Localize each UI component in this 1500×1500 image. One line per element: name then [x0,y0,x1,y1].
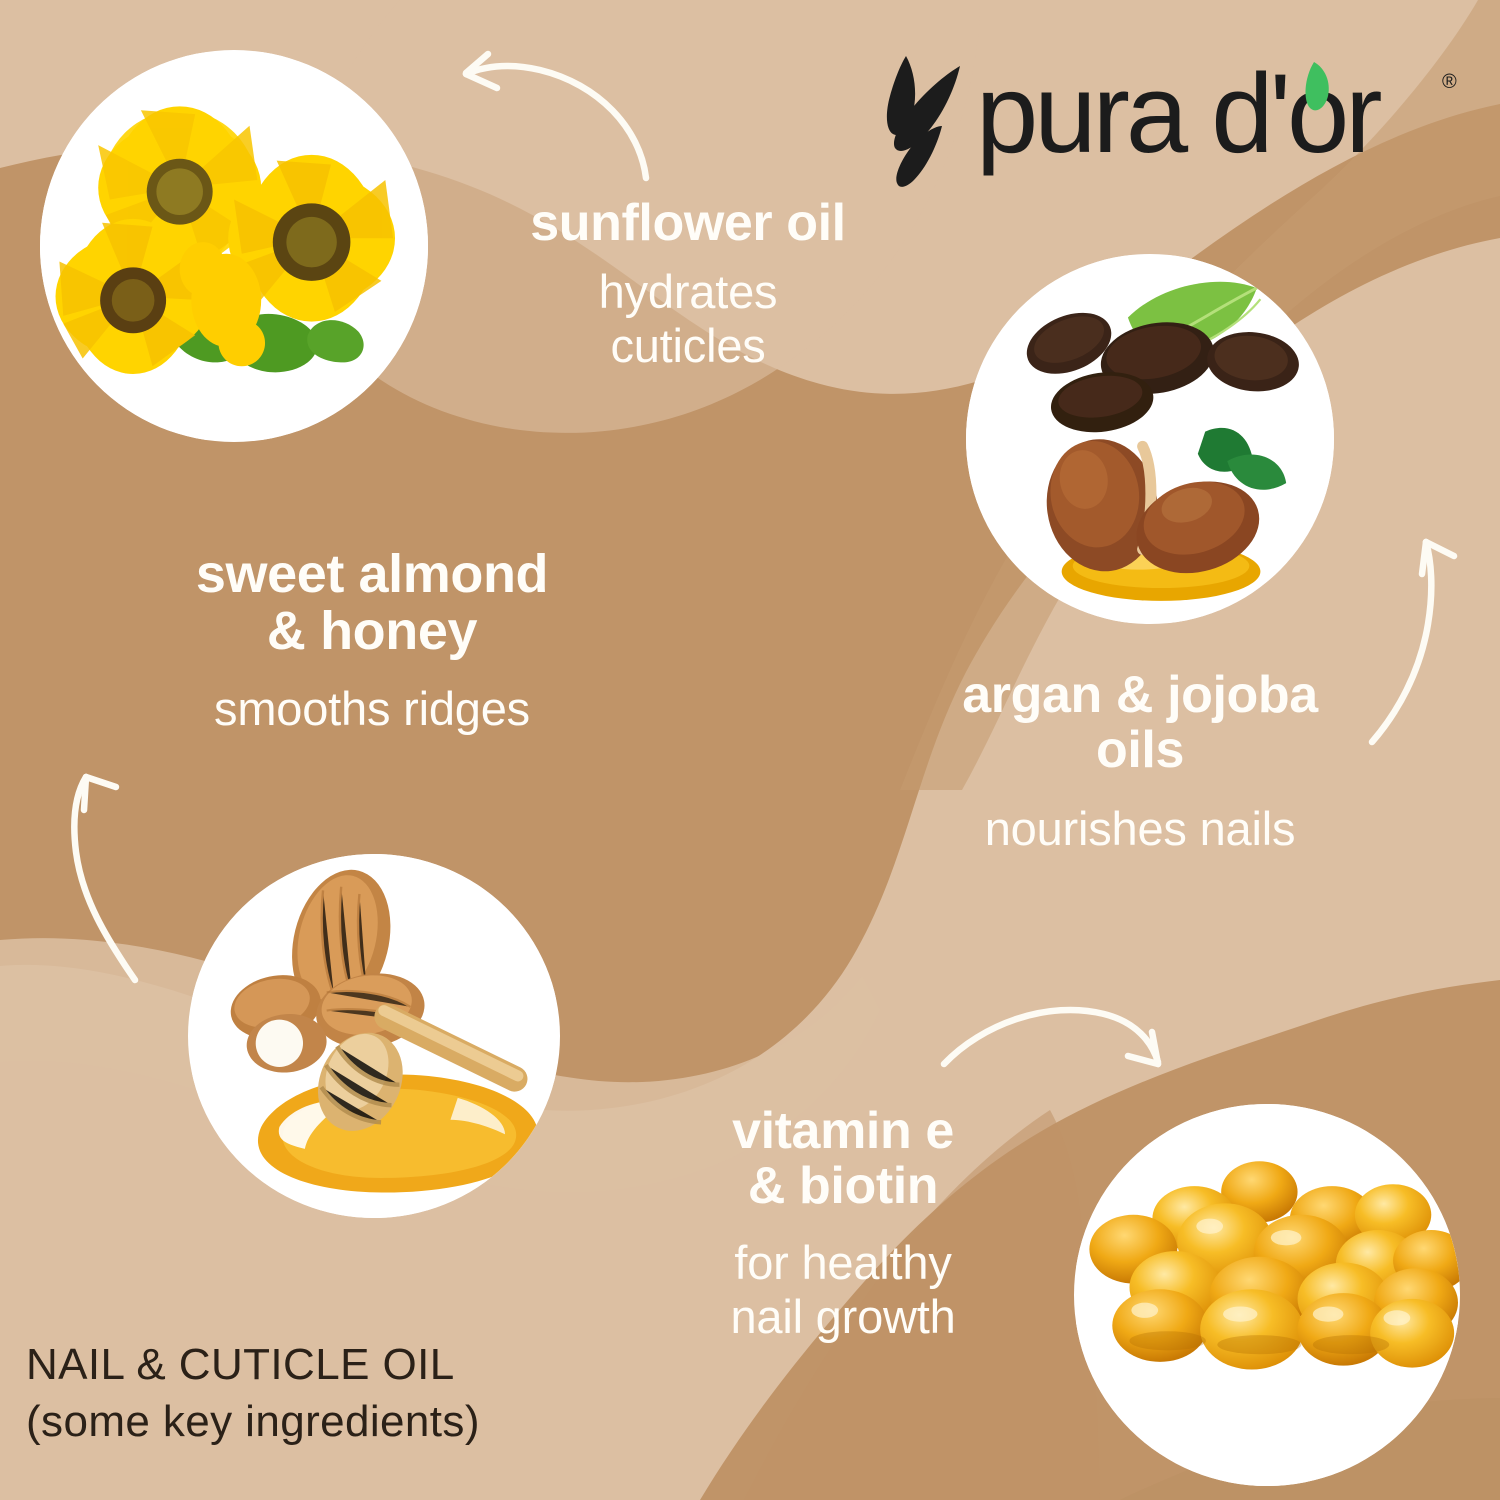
vitamin-biotin-title: vitamin e & biotin [628,1104,1058,1214]
brand-logo-art: pura d'or ® [884,44,1464,194]
almond-honey-title-line2: & honey [62,603,682,660]
almond-honey-title: sweet almond & honey [62,546,682,660]
vitamin-biotin-benefit-line1: for healthy [628,1236,1058,1290]
argan-jojoba-title-line2: oils [855,723,1425,778]
ingredient-label-vitamin-biotin: vitamin e & biotin for healthy nail grow… [628,1104,1058,1343]
vitamin-e-photo [1074,1104,1460,1486]
brand-logo[interactable]: pura d'or ® [884,44,1464,194]
argan-jojoba-title-line1: argan & jojoba [855,668,1425,723]
vitamin-biotin-benefit-line2: nail growth [628,1290,1058,1344]
ingredient-label-argan-jojoba: argan & jojoba oils nourishes nails [855,668,1425,856]
registered-trademark-symbol: ® [1442,71,1457,93]
sunflower-title: sunflower oil [428,196,948,251]
sunflower-photo-art [40,50,428,442]
sunflower-benefit: hydrates cuticles [428,265,948,372]
almond-honey-photo-art [188,854,560,1218]
vitamin-biotin-benefit: for healthy nail growth [628,1236,1058,1343]
argan-jojoba-photo-art [966,254,1334,624]
ingredient-label-sunflower: sunflower oil hydrates cuticles [428,196,948,372]
argan-jojoba-title: argan & jojoba oils [855,668,1425,778]
sunflower-benefit-line2: cuticles [428,319,948,373]
argan-jojoba-photo [966,254,1334,624]
product-caption: NAIL & CUTICLE OIL (some key ingredients… [26,1336,666,1450]
pura-dor-leaf-mark [887,56,960,187]
sunflower-photo [40,50,428,442]
sunflower-benefit-line1: hydrates [428,265,948,319]
vitamin-biotin-title-line1: vitamin e [628,1104,1058,1159]
argan-jojoba-benefit: nourishes nails [855,802,1425,856]
product-caption-line1: NAIL & CUTICLE OIL [26,1336,666,1393]
almond-honey-benefit: smooths ridges [62,682,682,736]
almond-honey-photo [188,854,560,1218]
ingredient-label-almond-honey: sweet almond & honey smooths ridges [62,546,682,736]
vitamin-e-photo-art [1074,1104,1460,1486]
product-caption-line2: (some key ingredients) [26,1393,666,1450]
infographic-canvas: pura d'or ® sunflower oil hydrates cutic… [0,0,1500,1500]
almond-honey-title-line1: sweet almond [62,546,682,603]
vitamin-biotin-title-line2: & biotin [628,1159,1058,1214]
